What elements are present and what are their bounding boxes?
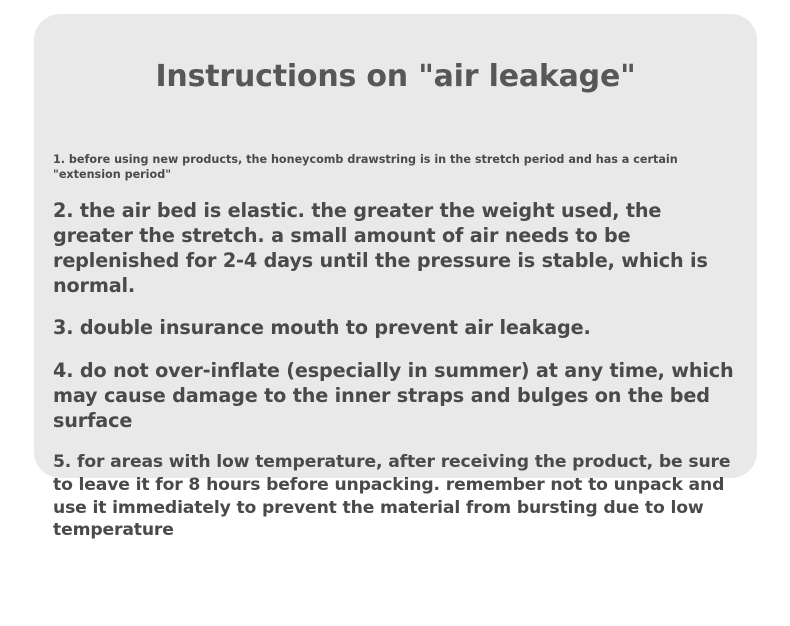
list-item: 5. for areas with low temperature, after… xyxy=(53,451,743,542)
list-item: 2. the air bed is elastic. the greater t… xyxy=(53,199,743,298)
page-title: Instructions on "air leakage" xyxy=(34,60,757,93)
instruction-card: Instructions on "air leakage" 1. before … xyxy=(34,14,757,478)
list-item: 1. before using new products, the honeyc… xyxy=(53,152,743,182)
instruction-list: 1. before using new products, the honeyc… xyxy=(53,152,743,542)
list-item: 4. do not over-inflate (especially in su… xyxy=(53,359,743,433)
page-root: Instructions on "air leakage" 1. before … xyxy=(0,0,790,626)
list-item: 3. double insurance mouth to prevent air… xyxy=(53,316,743,341)
